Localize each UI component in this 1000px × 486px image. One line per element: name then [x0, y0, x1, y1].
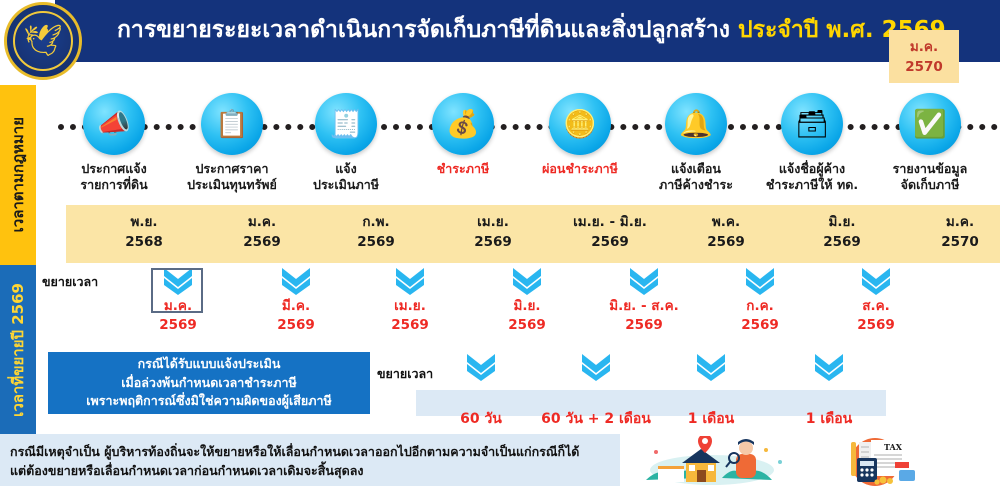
chevron-double-down-icon	[627, 266, 661, 296]
extension-date-cell-5[interactable]: มิ.ย. - ส.ค. 2569	[588, 266, 700, 335]
duration-cell-1[interactable]: 60 วัน	[416, 352, 546, 396]
garuda-emblem-glyph: 🕊	[23, 26, 62, 57]
statutory-date-cell-6-month: พ.ค.	[670, 213, 782, 233]
statutory-date-cell-1-year: 2568	[88, 233, 200, 253]
duration-cell-2[interactable]: 60 วัน + 2 เดือน	[531, 352, 661, 396]
megaphone-icon: 📣	[83, 93, 145, 155]
chevron-double-down-icon	[510, 266, 544, 296]
header-bar: การขยายระยะเวลาดำเนินการจัดเก็บภาษีที่ดิ…	[55, 0, 1000, 62]
extension-date-cell-3[interactable]: เม.ย. 2569	[354, 266, 466, 335]
extension-highlight-month: ม.ค.	[889, 38, 959, 58]
timeline-node-3-label: แจ้ง ประเมินภาษี	[290, 161, 402, 192]
chevron-double-down-icon	[743, 266, 777, 296]
statutory-date-cell-5-year: 2569	[554, 233, 666, 253]
statutory-date-cell-1-month: พ.ย.	[88, 213, 200, 233]
chevron-double-down-icon	[579, 352, 613, 382]
tax-report-icon: 🗃	[781, 93, 843, 155]
extension-date-cell-4-month: มิ.ย.	[471, 297, 583, 316]
timeline-node-2[interactable]: 📋 ประกาศราคา ประเมินทุนทรัพย์	[176, 85, 288, 192]
timeline-node-5-label: ผ่อนชำระภาษี	[524, 161, 636, 177]
chevron-double-down-icon	[694, 352, 728, 382]
extension-date-cell-6-year: 2569	[704, 316, 816, 335]
sidebar-tab-statutory-time-label: เวลาตามกฎหมาย	[6, 117, 30, 232]
timeline-node-2-label: ประกาศราคา ประเมินทุนทรัพย์	[176, 161, 288, 192]
statutory-date-cell-4: เม.ย. 2569	[437, 205, 549, 252]
tax-form-icon: 🧾	[315, 93, 377, 155]
timeline-node-4[interactable]: 💰 ชำระภาษี	[407, 85, 519, 177]
extension-date-cell-5-year: 2569	[588, 316, 700, 335]
chevron-double-down-icon	[393, 266, 427, 296]
timeline-node-5[interactable]: 🪙 ผ่อนชำระภาษี	[524, 85, 636, 177]
duration-row: ขยายเวลา 60 วัน 60 วัน + 2 เดือน 1 เดือน	[36, 352, 1000, 414]
page-title-main: การขยายระยะเวลาดำเนินการจัดเก็บภาษีที่ดิ…	[117, 17, 730, 43]
timeline-node-7[interactable]: 🗃 แจ้งชื่อผู้ค้าง ชำระภาษีให้ ทด.	[756, 85, 868, 192]
statutory-date-cell-3: ก.พ. 2569	[320, 205, 432, 252]
coin-insert-hand-icon: 🪙	[549, 93, 611, 155]
statutory-date-cell-6-year: 2569	[670, 233, 782, 253]
extension-highlight-year: 2570	[889, 58, 959, 78]
timeline-node-7-label: แจ้งชื่อผู้ค้าง ชำระภาษีให้ ทด.	[756, 161, 868, 192]
duration-cell-3[interactable]: 1 เดือน	[646, 352, 776, 396]
statutory-date-cell-4-month: เม.ย.	[437, 213, 549, 233]
extension-highlight-cell: ม.ค. 2570	[889, 30, 959, 83]
extension-row-label: ขยายเวลา	[42, 272, 98, 292]
timeline-node-6[interactable]: 🔔 แจ้งเตือน ภาษีค้างชำระ	[640, 85, 752, 192]
statutory-date-cell-3-month: ก.พ.	[320, 213, 432, 233]
statutory-date-cell-8: ม.ค. 2570	[904, 205, 1000, 252]
extension-date-cell-2-year: 2569	[240, 316, 352, 335]
duration-cell-2-value: 60 วัน + 2 เดือน	[531, 412, 661, 426]
page-title: การขยายระยะเวลาดำเนินการจัดเก็บภาษีที่ดิ…	[117, 18, 946, 43]
statutory-date-cell-7-month: มิ.ย.	[786, 213, 898, 233]
statutory-date-cell-7-year: 2569	[786, 233, 898, 253]
clipboard-pencil-icon: 📋	[201, 93, 263, 155]
extension-date-cell-6[interactable]: ก.ค. 2569	[704, 266, 816, 335]
extension-date-cell-3-year: 2569	[354, 316, 466, 335]
chevron-double-down-icon	[859, 266, 893, 296]
statutory-date-cell-2: ม.ค. 2569	[206, 205, 318, 252]
extension-date-cell-5-month: มิ.ย. - ส.ค.	[588, 297, 700, 316]
statutory-date-cell-8-year: 2570	[904, 233, 1000, 253]
statutory-date-cell-6: พ.ค. 2569	[670, 205, 782, 252]
bell-alert-icon: 🔔	[665, 93, 727, 155]
svg-text:TAX: TAX	[884, 442, 903, 452]
timeline-node-4-label: ชำระภาษี	[407, 161, 519, 177]
extension-date-row: ขยายเวลา ม.ค. 2569 มี.ค. 2569 เม.ย.	[36, 266, 1000, 336]
statutory-date-cell-5-month: เม.ย. - มิ.ย.	[554, 213, 666, 233]
extension-date-cell-4-year: 2569	[471, 316, 583, 335]
timeline-row: 📣 ประกาศแจ้ง รายการที่ดิน 📋 ประกาศราคา ป…	[36, 85, 1000, 203]
extension-date-cell-7-year: 2569	[820, 316, 932, 335]
statutory-date-cell-7: มิ.ย. 2569	[786, 205, 898, 252]
footer-note: กรณีมีเหตุจำเป็น ผู้บริหารท้องถิ่นจะให้ข…	[0, 434, 620, 486]
money-bag-hand-icon: 💰	[432, 93, 494, 155]
timeline-node-6-label: แจ้งเตือน ภาษีค้างชำระ	[640, 161, 752, 192]
garuda-emblem-icon: 🕊	[4, 2, 82, 80]
timeline-node-1-label: ประกาศแจ้ง รายการที่ดิน	[58, 161, 170, 192]
duration-cell-4[interactable]: 1 เดือน	[764, 352, 894, 396]
selection-highlight-box[interactable]	[151, 268, 203, 313]
extension-date-cell-1-year: 2569	[122, 316, 234, 335]
extension-date-cell-4[interactable]: มิ.ย. 2569	[471, 266, 583, 335]
duration-cell-3-value: 1 เดือน	[646, 412, 776, 426]
statutory-date-cell-8-month: ม.ค.	[904, 213, 1000, 233]
garuda-emblem-ring: 🕊	[13, 11, 73, 71]
checklist-clipboard-icon: ✅	[899, 93, 961, 155]
sidebar-tab-extended-time: เวลาที่ขยายปี 2569	[0, 265, 36, 435]
timeline-node-8[interactable]: ✅ รายงานข้อมูล จัดเก็บภาษี	[874, 85, 986, 192]
duration-cell-4-value: 1 เดือน	[764, 412, 894, 426]
chevron-double-down-icon	[279, 266, 313, 296]
extension-date-cell-6-month: ก.ค.	[704, 297, 816, 316]
extension-date-cell-3-month: เม.ย.	[354, 297, 466, 316]
extension-date-cell-2-month: มี.ค.	[240, 297, 352, 316]
statutory-date-cell-2-year: 2569	[206, 233, 318, 253]
extension-date-cell-7[interactable]: ส.ค. 2569	[820, 266, 932, 335]
house-inspector-illustration	[640, 436, 810, 486]
chevron-double-down-icon	[812, 352, 846, 382]
statutory-date-cell-4-year: 2569	[437, 233, 549, 253]
footer-note-line-2: แต่ต้องขยายหรือเลื่อนกำหนดเวลาก่อนกำหนดเ…	[10, 461, 610, 480]
timeline-node-1[interactable]: 📣 ประกาศแจ้ง รายการที่ดิน	[58, 85, 170, 192]
statutory-date-cell-5: เม.ย. - มิ.ย. 2569	[554, 205, 666, 252]
statutory-date-cell-1: พ.ย. 2568	[88, 205, 200, 252]
timeline-node-8-label: รายงานข้อมูล จัดเก็บภาษี	[874, 161, 986, 192]
extension-date-cell-7-month: ส.ค.	[820, 297, 932, 316]
chevron-double-down-icon	[464, 352, 498, 382]
infographic-root: การขยายระยะเวลาดำเนินการจัดเก็บภาษีที่ดิ…	[0, 0, 1000, 486]
statutory-date-band: พ.ย. 2568 ม.ค. 2569 ก.พ. 2569 เม.ย. 2569…	[66, 205, 1000, 263]
timeline-node-3[interactable]: 🧾 แจ้ง ประเมินภาษี	[290, 85, 402, 192]
tax-calculator-illustration: TAX	[815, 436, 935, 486]
statutory-date-cell-3-year: 2569	[320, 233, 432, 253]
footer-note-line-1: กรณีมีเหตุจำเป็น ผู้บริหารท้องถิ่นจะให้ข…	[10, 442, 610, 461]
sidebar-tab-statutory-time: เวลาตามกฎหมาย	[0, 85, 36, 265]
extension-date-cell-2[interactable]: มี.ค. 2569	[240, 266, 352, 335]
statutory-date-cell-2-month: ม.ค.	[206, 213, 318, 233]
duration-cell-1-value: 60 วัน	[416, 412, 546, 426]
sidebar-tab-extended-time-label: เวลาที่ขยายปี 2569	[6, 283, 30, 417]
